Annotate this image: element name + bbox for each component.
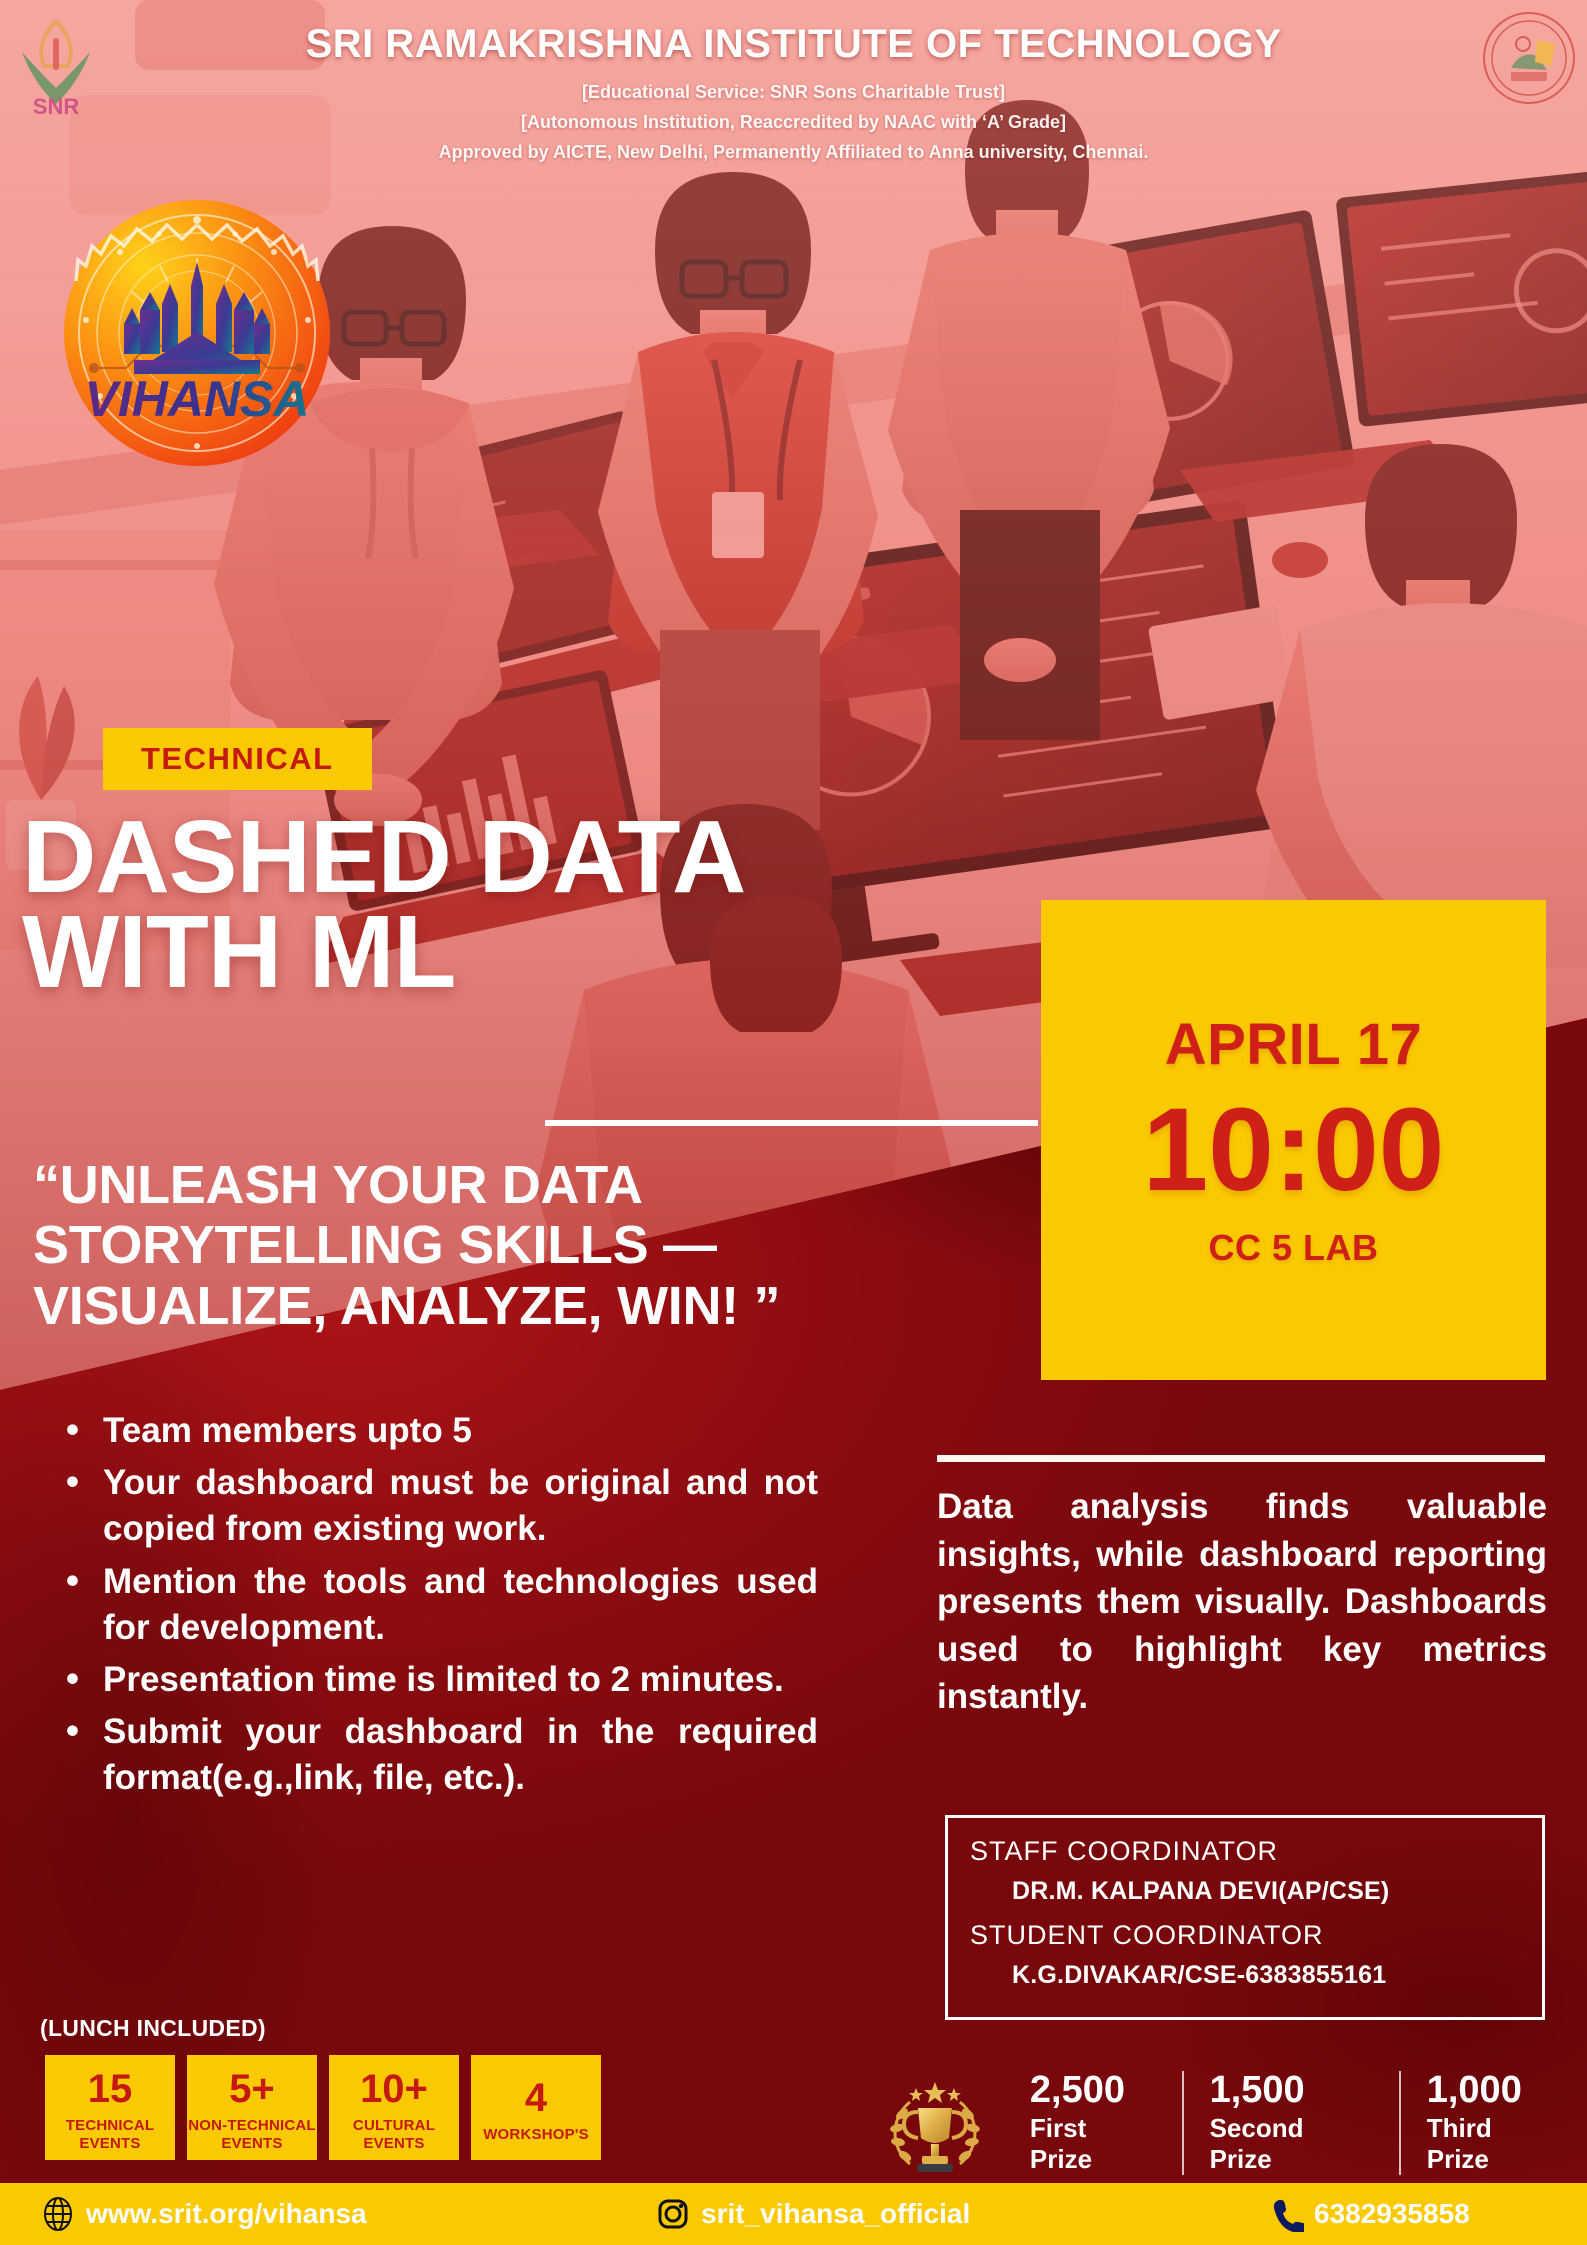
event-time: 10:00	[1143, 1090, 1445, 1210]
fest-stats: 15 TECHNICAL EVENTS 5+ NON-TECHNICAL EVE…	[45, 2055, 601, 2160]
prize-label: First Prize	[1030, 2113, 1156, 2175]
stat-label-line-1: WORKSHOP'S	[483, 2126, 589, 2143]
stat-label-line-1: NON-TECHNICAL	[188, 2117, 316, 2134]
schedule-panel: APRIL 17 10:00 CC 5 LAB	[1041, 900, 1546, 1380]
tagline-line-1: “UNLEASH YOUR DATA	[33, 1155, 1033, 1215]
stat-label-line-1: CULTURAL	[353, 2117, 435, 2134]
coordinator-box: STAFF COORDINATOR DR.M. KALPANA DEVI(AP/…	[945, 1815, 1545, 2020]
prize-amount: 2,500	[1030, 2071, 1156, 2111]
tagline-line-2: STORYTELLING SKILLS —	[33, 1215, 1033, 1275]
institute-header: SRI RAMAKRISHNA INSTITUTE OF TECHNOLOGY …	[0, 0, 1587, 167]
staff-coordinator-name: DR.M. KALPANA DEVI(AP/CSE)	[1012, 1877, 1520, 1906]
list-item: Submit your dashboard in the required fo…	[58, 1709, 818, 1801]
institute-subtitle-1: [Educational Service: SNR Sons Charitabl…	[0, 79, 1587, 107]
website-link[interactable]: www.srit.org/vihansa	[40, 2196, 367, 2232]
institute-seal-icon	[1481, 10, 1577, 106]
website-label: www.srit.org/vihansa	[86, 2198, 367, 2230]
snr-trust-logo-icon: SNR	[8, 8, 104, 118]
stat-label-line-2: EVENTS	[363, 2135, 424, 2152]
stat-label-line-2: EVENTS	[221, 2135, 282, 2152]
lunch-note: (LUNCH INCLUDED)	[40, 2015, 266, 2042]
prize-first: 2,500 First Prize	[1004, 2071, 1182, 2175]
tagline-line-3: VISUALIZE, ANALYZE, WIN! ”	[33, 1276, 1033, 1336]
list-item: Your dashboard must be original and not …	[58, 1460, 818, 1552]
event-title-line-2: WITH ML	[22, 905, 745, 1000]
prize-amount: 1,500	[1210, 2071, 1373, 2111]
instagram-link[interactable]: srit_vihansa_official	[655, 2196, 970, 2232]
stat-label: CULTURAL EVENTS	[353, 2117, 435, 2153]
instagram-label: srit_vihansa_official	[701, 2198, 970, 2230]
phone-icon	[1268, 2196, 1304, 2232]
stat-number: 10+	[360, 2069, 428, 2109]
divider-line-left	[545, 1120, 1038, 1126]
stat-box-technical: 15 TECHNICAL EVENTS	[45, 2055, 175, 2160]
stat-label-line-2: EVENTS	[79, 2135, 140, 2152]
prize-third: 1,000 Third Prize	[1399, 2071, 1587, 2175]
event-description: Data analysis finds valuable insights, w…	[937, 1483, 1547, 1721]
stat-number: 15	[88, 2069, 133, 2109]
instagram-icon	[655, 2196, 691, 2232]
prize-label: Third Prize	[1427, 2113, 1561, 2175]
stat-box-non-technical: 5+ NON-TECHNICAL EVENTS	[187, 2055, 317, 2160]
category-badge: TECHNICAL	[103, 728, 372, 790]
vihansa-fest-logo: VIHANSA	[64, 200, 330, 466]
staff-coordinator-label: STAFF COORDINATOR	[970, 1836, 1520, 1867]
event-date: APRIL 17	[1165, 1011, 1423, 1078]
prize-amount: 1,000	[1427, 2071, 1561, 2111]
stat-number: 5+	[229, 2069, 275, 2109]
stat-label: TECHNICAL EVENTS	[66, 2117, 154, 2153]
list-item: Presentation time is limited to 2 minute…	[58, 1657, 818, 1703]
event-venue: CC 5 LAB	[1208, 1227, 1378, 1269]
institute-subtitle-3: Approved by AICTE, New Delhi, Permanentl…	[0, 139, 1587, 167]
stat-number: 4	[525, 2078, 547, 2118]
trophy-icon	[880, 2068, 990, 2178]
stat-box-workshops: 4 WORKSHOP'S	[471, 2055, 601, 2160]
vihansa-wordmark: VIHANSA	[84, 371, 309, 427]
prize-section: 2,500 First Prize 1,500 Second Prize 1,0…	[880, 2068, 1587, 2178]
list-item: Mention the tools and technologies used …	[58, 1559, 818, 1651]
prize-second: 1,500 Second Prize	[1182, 2071, 1399, 2175]
prize-label: Second Prize	[1210, 2113, 1373, 2175]
institute-subtitles: [Educational Service: SNR Sons Charitabl…	[0, 79, 1587, 167]
list-item: Team members upto 5	[58, 1408, 818, 1454]
page-title: SRI RAMAKRISHNA INSTITUTE OF TECHNOLOGY	[0, 22, 1587, 67]
event-rules-list: Team members upto 5 Your dashboard must …	[58, 1408, 818, 1808]
event-poster: SRI RAMAKRISHNA INSTITUTE OF TECHNOLOGY …	[0, 0, 1587, 2245]
student-coordinator-name: K.G.DIVAKAR/CSE-6383855161	[1012, 1961, 1520, 1990]
event-title: DASHED DATA WITH ML	[22, 810, 745, 1000]
event-tagline: “UNLEASH YOUR DATA STORYTELLING SKILLS —…	[33, 1155, 1033, 1336]
phone-label: 6382935858	[1314, 2198, 1470, 2230]
student-coordinator-label: STUDENT COORDINATOR	[970, 1920, 1520, 1951]
globe-icon	[40, 2196, 76, 2232]
contact-footer: www.srit.org/vihansa srit_vihansa_offici…	[0, 2183, 1587, 2245]
stat-box-cultural: 10+ CULTURAL EVENTS	[329, 2055, 459, 2160]
phone-link[interactable]: 6382935858	[1268, 2196, 1470, 2232]
stat-label: NON-TECHNICAL EVENTS	[188, 2117, 316, 2153]
stat-label-line-1: TECHNICAL	[66, 2117, 154, 2134]
event-title-line-1: DASHED DATA	[22, 810, 745, 905]
institute-subtitle-2: [Autonomous Institution, Reaccredited by…	[0, 109, 1587, 137]
svg-text:SNR: SNR	[33, 94, 80, 118]
divider-line-right	[937, 1455, 1545, 1462]
stat-label: WORKSHOP'S	[483, 2126, 589, 2144]
